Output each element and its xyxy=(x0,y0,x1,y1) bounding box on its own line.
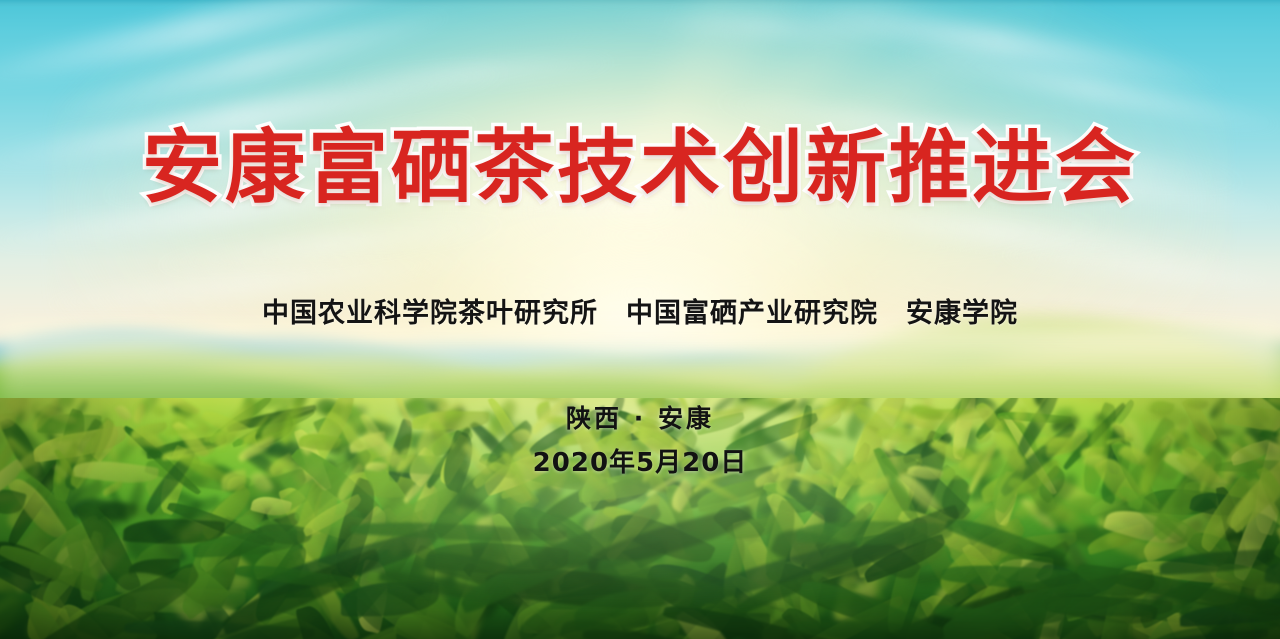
tea-field-foreground xyxy=(0,398,1280,639)
conference-banner: 安康富硒茶技术创新推进会 中国农业科学院茶叶研究所 中国富硒产业研究院 安康学院… xyxy=(0,0,1280,639)
organizers-line: 中国农业科学院茶叶研究所 中国富硒产业研究院 安康学院 xyxy=(0,300,1280,327)
date-text: 2020年5月20日 xyxy=(0,450,1280,476)
location-text: 陕西 · 安康 xyxy=(0,406,1280,431)
page-title: 安康富硒茶技术创新推进会 xyxy=(0,128,1280,208)
tea-leaf xyxy=(101,480,124,497)
tea-leaves-front xyxy=(0,398,1280,639)
